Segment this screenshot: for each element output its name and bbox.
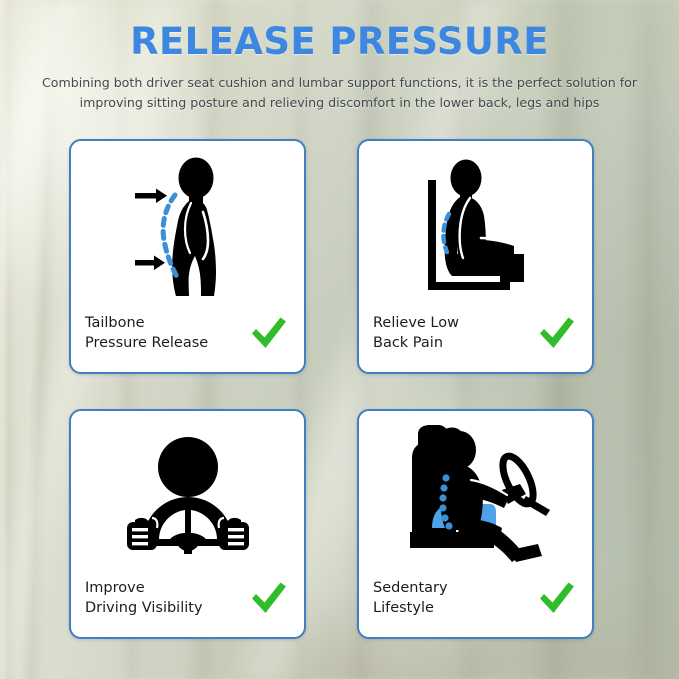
feature-card-tailbone-pressure-release[interactable]: Tailbone Pressure Release — [69, 139, 306, 374]
driver-steering-wheel-icon — [71, 419, 304, 569]
product-feature-poster: RELEASE PRESSURE Combining both driver s… — [0, 0, 679, 679]
feature-label: Tailbone Pressure Release — [85, 313, 208, 353]
green-check-icon — [250, 581, 288, 615]
right-hand — [218, 518, 249, 550]
page-title: RELEASE PRESSURE — [0, 0, 679, 63]
feature-card-grid: Tailbone Pressure Release — [69, 139, 594, 639]
green-check-icon — [250, 316, 288, 350]
feature-label: Sedentary Lifestyle — [373, 578, 448, 618]
green-check-icon — [538, 316, 576, 350]
feature-card-relieve-low-back-pain[interactable]: Relieve Low Back Pain — [357, 139, 594, 374]
card-footer: Sedentary Lifestyle — [359, 567, 592, 629]
feature-label: Relieve Low Back Pain — [373, 313, 459, 353]
left-hand — [127, 518, 158, 550]
arrow-upper — [135, 189, 167, 204]
arrow-lower — [135, 256, 165, 271]
poster-header: RELEASE PRESSURE Combining both driver s… — [0, 0, 679, 112]
seated-driver-cushion-icon — [359, 419, 592, 569]
green-check-icon — [538, 581, 576, 615]
card-footer: Improve Driving Visibility — [71, 567, 304, 629]
feature-card-sedentary-lifestyle[interactable]: Sedentary Lifestyle — [357, 409, 594, 639]
seated-lumbar-support-icon — [359, 151, 592, 303]
standing-posture-icon — [71, 151, 304, 303]
feature-card-improve-driving-visibility[interactable]: Improve Driving Visibility — [69, 409, 306, 639]
feature-label: Improve Driving Visibility — [85, 578, 203, 618]
card-footer: Relieve Low Back Pain — [359, 302, 592, 364]
card-footer: Tailbone Pressure Release — [71, 302, 304, 364]
page-subtitle: Combining both driver seat cushion and l… — [27, 73, 653, 112]
